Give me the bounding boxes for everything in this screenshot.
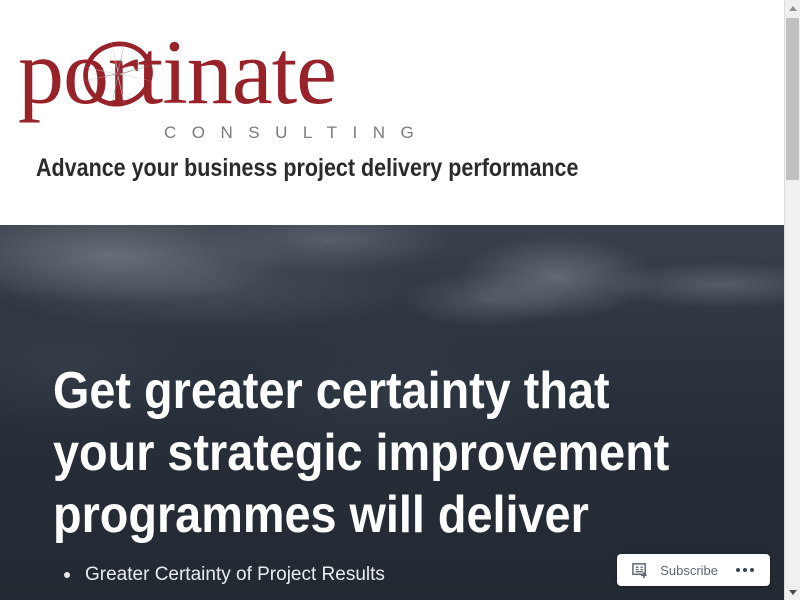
hero-heading: Get greater certainty that your strategi…	[53, 360, 684, 546]
hero-section: Get greater certainty that your strategi…	[0, 225, 784, 600]
site-tagline: Advance your business project delivery p…	[36, 153, 578, 183]
subscribe-bar[interactable]: Subscribe	[617, 554, 770, 586]
logo-wordmark-text: portinate	[18, 18, 336, 126]
vertical-scrollbar[interactable]	[784, 0, 800, 600]
chevron-up-icon	[789, 6, 797, 11]
subscribe-button[interactable]: Subscribe	[631, 561, 718, 580]
site-logo[interactable]: portinate	[18, 18, 336, 126]
ellipsis-dot	[743, 568, 747, 572]
page-viewport: portinate	[0, 0, 784, 600]
scrollbar-thumb[interactable]	[786, 18, 799, 180]
logo-consulting-text: CONSULTING	[164, 123, 429, 143]
subscribe-feed-icon	[631, 561, 650, 580]
scrollbar-up-button[interactable]	[785, 0, 800, 16]
subscribe-label: Subscribe	[660, 563, 718, 578]
ellipsis-dot	[750, 568, 754, 572]
ellipsis-dot	[736, 568, 740, 572]
site-header: portinate	[0, 0, 784, 225]
browser-page: portinate	[0, 0, 800, 600]
logo-wordmark-row: portinate	[18, 18, 336, 126]
chevron-down-icon	[789, 590, 797, 595]
scrollbar-down-button[interactable]	[785, 584, 800, 600]
more-options-button[interactable]	[734, 568, 754, 572]
